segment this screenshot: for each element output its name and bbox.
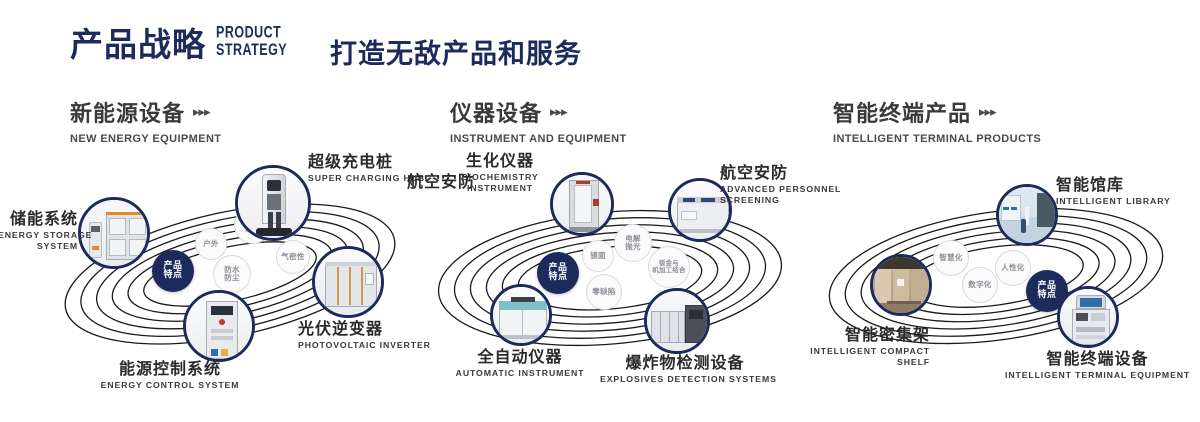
node-photo-energy-control[interactable] xyxy=(183,290,255,362)
page-title: 产品战略 PRODUCT STRATEGY xyxy=(70,28,287,61)
feature-bubble-humanized: 人性化 xyxy=(995,250,1031,286)
feature-bubble-zero-defect: 零缺陷 xyxy=(586,274,622,310)
chevron-right-icon: ▸▸▸ xyxy=(193,104,210,120)
section-title-cn: 新能源设备 xyxy=(70,96,185,128)
title-english: PRODUCT STRATEGY xyxy=(216,24,287,59)
node-photo-intelligent-library[interactable] xyxy=(996,184,1058,246)
section-header-intelligent-terminal: 智能终端产品▸▸▸ INTELLIGENT TERMINAL PRODUCTS xyxy=(833,96,1041,145)
core-badge-product-features: 产品 特点 xyxy=(152,250,194,292)
node-label-energy-storage: 储能系统 ENERGY STORAGE SYSTEM xyxy=(0,210,78,252)
poster-canvas: 产品战略 PRODUCT STRATEGY 打造无敌产品和服务 新能源设备▸▸▸… xyxy=(0,0,1200,422)
section-title-cn: 智能终端产品 xyxy=(833,96,971,128)
feature-bubble-sheetmetal-machining: 钣金与 机加工结合 xyxy=(648,246,690,288)
diagram-group-intelligent-terminal: 智慧化 数字化 人性化 产品 特点 xyxy=(810,150,1190,400)
section-title-en: INTELLIGENT TERMINAL PRODUCTS xyxy=(833,133,1041,145)
node-label-energy-control: 能源控制系统 ENERGY CONTROL SYSTEM xyxy=(80,360,260,391)
node-label-automatic-instrument: 全自动仪器 AUTOMATIC INSTRUMENT xyxy=(430,348,610,379)
feature-bubble-airtightness: 气密性 xyxy=(276,240,310,274)
chevron-right-icon: ▸▸▸ xyxy=(979,104,996,120)
core-badge-line2: 特点 xyxy=(163,270,182,280)
section-title-cn: 仪器设备 xyxy=(450,96,542,128)
title-english-line2: STRATEGY xyxy=(216,41,287,59)
feature-bubble-mirror: 镜面 xyxy=(582,240,614,272)
node-photo-automatic-instrument[interactable] xyxy=(490,284,552,346)
page-subtitle: 打造无敌产品和服务 xyxy=(330,32,582,71)
section-header-instrument: 仪器设备▸▸▸ INSTRUMENT AND EQUIPMENT xyxy=(450,96,627,145)
node-photo-terminal-equipment[interactable] xyxy=(1057,286,1119,348)
node-label-explosives-detection: 爆炸物检测设备 EXPLOSIVES DETECTION SYSTEMS xyxy=(600,354,770,385)
feature-bubble-digital: 数字化 xyxy=(962,267,998,303)
feature-bubble-waterproof: 防水 防尘 xyxy=(213,255,251,293)
node-photo-compact-shelf[interactable] xyxy=(870,254,932,316)
node-label-biochemistry-instrument: 生化仪器 BIOCHEMISTRY INSTRUMENT xyxy=(440,152,560,194)
node-label-intelligent-library: 智能馆库 INTELLIGENT LIBRARY xyxy=(1056,176,1200,207)
node-label-compact-shelf: 智能密集架 INTELLIGENT COMPACT SHELF xyxy=(770,326,930,368)
core-badge-line2: 特点 xyxy=(548,272,567,282)
core-badge-line2: 特点 xyxy=(1037,290,1056,300)
node-label-pv-inverter: 光伏逆变器 PHOTOVOLTAIC INVERTER xyxy=(298,320,428,351)
section-title-en: INSTRUMENT AND EQUIPMENT xyxy=(450,133,627,145)
chevron-right-icon: ▸▸▸ xyxy=(550,104,567,120)
diagram-group-instrument: 航空安防 产品 特点 镜面 电解 抛光 钣金与 机加工结合 零缺陷 xyxy=(420,150,810,400)
title-english-line1: PRODUCT xyxy=(216,24,287,42)
node-photo-charging-hub[interactable] xyxy=(235,165,311,241)
feature-bubble-outdoor: 户外 xyxy=(195,228,227,260)
feature-bubble-intelligent: 智慧化 xyxy=(933,240,969,276)
diagram-group-new-energy: 产品 特点 户外 防腐 防锈 防水 防尘 气密性 xyxy=(40,150,420,400)
node-label-terminal-equipment: 智能终端设备 INTELLIGENT TERMINAL EQUIPMENT xyxy=(1005,350,1190,381)
section-title-en: NEW ENERGY EQUIPMENT xyxy=(70,133,221,145)
feature-bubble-electropolishing: 电解 抛光 xyxy=(614,224,652,262)
title-chinese: 产品战略 xyxy=(70,28,206,61)
section-header-new-energy: 新能源设备▸▸▸ NEW ENERGY EQUIPMENT xyxy=(70,96,221,145)
node-photo-explosives-detection[interactable] xyxy=(644,288,710,354)
node-photo-pv-inverter[interactable] xyxy=(312,246,384,318)
